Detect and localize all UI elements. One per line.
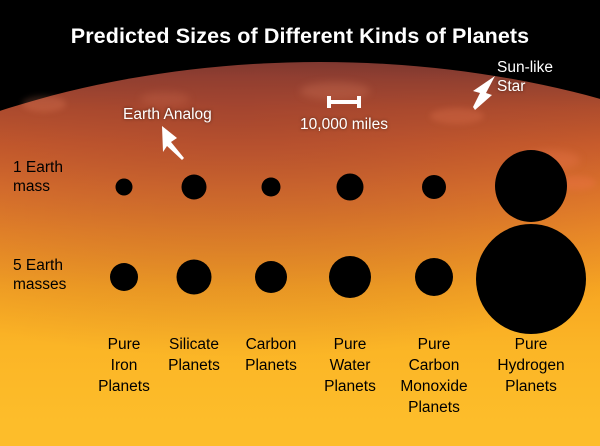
planet-pure-carbon-monoxide-5earth [415,258,453,296]
page-title: Predicted Sizes of Different Kinds of Pl… [0,24,600,49]
column-label-silicate: Silicate Planets [168,334,220,376]
sun-like-star-arrow-icon [455,74,501,120]
earth-analog-arrow-icon [160,124,206,170]
planet-pure-iron-1earth [116,179,133,196]
earth-analog-label: Earth Analog [123,105,212,124]
row-label-5-earth-masses: 5 Earth masses [13,256,66,294]
planet-pure-carbon-monoxide-1earth [422,175,446,199]
planet-carbon-1earth [262,178,281,197]
scale-bar-label: 10,000 miles [300,116,388,134]
planet-silicate-5earth [177,260,212,295]
scale-bar-line [327,100,361,104]
column-label-pure-iron: Pure Iron Planets [98,334,150,397]
column-label-pure-water: Pure Water Planets [324,334,376,397]
planet-pure-iron-5earth [110,263,138,291]
column-label-carbon: Carbon Planets [245,334,297,376]
scale-bar-cap-right [357,96,361,108]
planet-silicate-1earth [182,175,207,200]
planet-carbon-5earth [255,261,287,293]
column-label-pure-hydrogen: Pure Hydrogen Planets [497,334,564,397]
planet-pure-water-1earth [337,174,364,201]
infographic-canvas: Predicted Sizes of Different Kinds of Pl… [0,0,600,446]
scale-bar-cap-left [327,96,331,108]
scale-bar [327,96,361,108]
planet-pure-water-5earth [329,256,371,298]
planet-pure-hydrogen-1earth [495,150,567,222]
column-label-pure-carbon-monoxide: Pure Carbon Monoxide Planets [400,334,467,418]
sun-like-star-label: Sun-like Star [497,58,553,96]
row-label-1-earth-mass: 1 Earth mass [13,158,63,196]
planet-pure-hydrogen-5earth [476,224,586,334]
